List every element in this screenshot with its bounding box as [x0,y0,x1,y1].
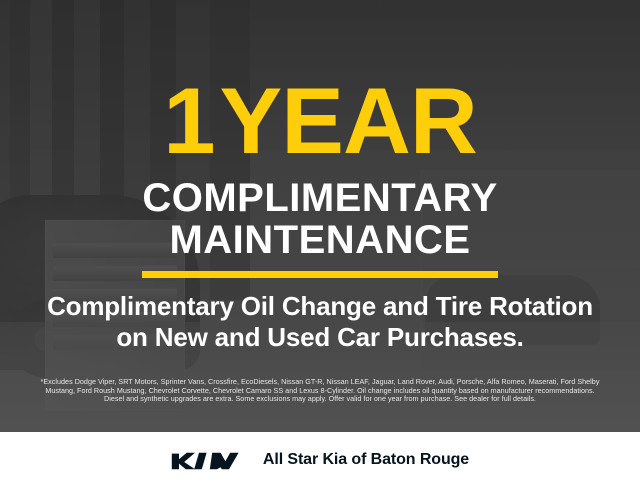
dealer-name: All Star Kia of Baton Rouge [263,451,469,469]
headline-year: 1YEAR [0,74,640,168]
disclaimer-line: Diesel and synthetic upgrades are extra.… [12,395,628,404]
subheadline-line-2: on New and Used Car Purchases. [0,322,640,352]
headline-year-word: YEAR [220,68,477,173]
banner-content: 1YEAR COMPLIMENTARY MAINTENANCE Complime… [0,0,640,488]
footer-brand-group: All Star Kia of Baton Rouge [171,450,469,470]
yellow-divider-bar [142,271,498,278]
headline-year-number: 1 [163,68,219,173]
headline-complimentary: COMPLIMENTARY [0,178,640,218]
headline-maintenance: MAINTENANCE [0,220,640,260]
kia-logo-icon [171,450,245,470]
footer-bar: All Star Kia of Baton Rouge [0,432,640,488]
subheadline-line-1: Complimentary Oil Change and Tire Rotati… [0,291,640,321]
disclaimer-text: *Excludes Dodge Viper, SRT Motors, Sprin… [12,378,628,404]
promotional-banner: 1YEAR COMPLIMENTARY MAINTENANCE Complime… [0,0,640,488]
